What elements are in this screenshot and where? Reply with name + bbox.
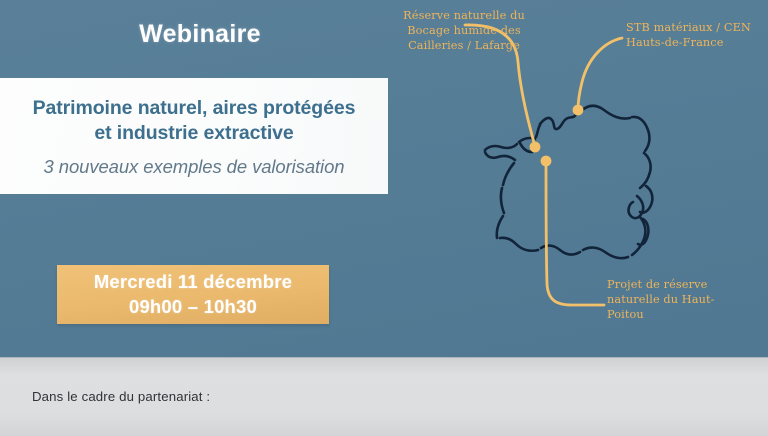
slide-subtitle: 3 nouveaux exemples de valorisation bbox=[44, 156, 345, 178]
map-label-stb: STB matériaux / CEN Hauts-de-France bbox=[626, 20, 766, 50]
label-line: Bocage humide des bbox=[407, 24, 520, 37]
slide-kicker: Webinaire bbox=[100, 20, 300, 49]
marker-cailleries bbox=[530, 142, 541, 153]
time-line: 09h00 – 10h30 bbox=[129, 295, 257, 320]
webinar-slide: Webinaire Patrimoine naturel, aires prot… bbox=[0, 0, 768, 436]
slide-title-line-2: et industrie extractive bbox=[94, 122, 293, 144]
label-line: Cailleries / Lafarge bbox=[408, 39, 520, 52]
leader-line-stb bbox=[578, 38, 622, 110]
date-line: Mercredi 11 décembre bbox=[94, 270, 292, 295]
partnership-label: Dans le cadre du partenariat : bbox=[32, 389, 210, 404]
label-line: Réserve naturelle du bbox=[403, 9, 525, 22]
label-line: STB matériaux / CEN bbox=[626, 21, 751, 34]
france-outline bbox=[485, 106, 652, 258]
slide-title: Patrimoine naturel, aires protégées et i… bbox=[33, 96, 356, 146]
map-label-poitou: Projet de réserve naturelle du Haut- Poi… bbox=[607, 277, 725, 322]
leader-line-poitou bbox=[546, 161, 604, 305]
slide-title-line-1: Patrimoine naturel, aires protégées bbox=[33, 97, 356, 119]
map-markers bbox=[530, 105, 584, 167]
date-badge: Mercredi 11 décembre 09h00 – 10h30 bbox=[57, 265, 329, 324]
label-line: Projet de réserve bbox=[607, 278, 707, 291]
leader-lines bbox=[465, 25, 622, 305]
label-line: Poitou bbox=[607, 308, 644, 321]
partners-footer: Dans le cadre du partenariat : Réserves … bbox=[0, 357, 768, 436]
marker-poitou bbox=[541, 156, 552, 167]
marker-stb bbox=[573, 105, 584, 116]
label-line: naturelle du Haut- bbox=[607, 293, 715, 306]
map-label-cailleries: Réserve naturelle du Bocage humide des C… bbox=[384, 8, 544, 53]
label-line: Hauts-de-France bbox=[626, 36, 724, 49]
title-card: Patrimoine naturel, aires protégées et i… bbox=[0, 78, 388, 194]
